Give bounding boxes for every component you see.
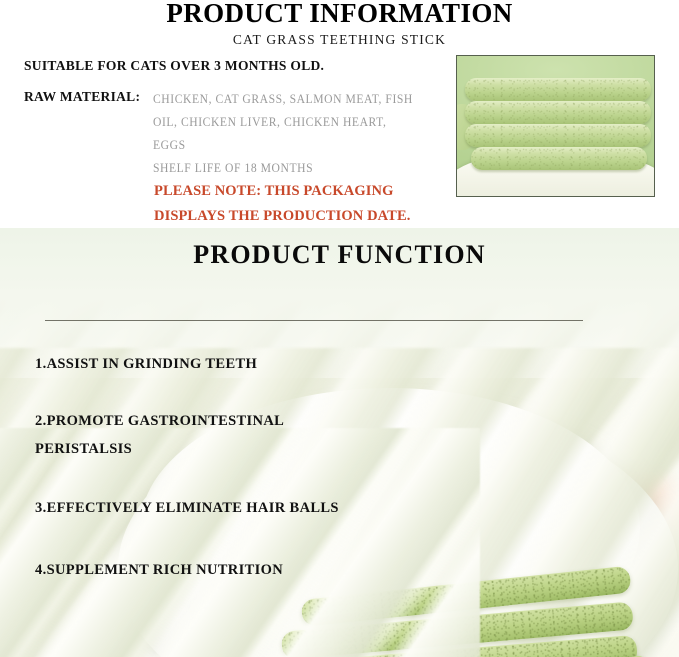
shelf-life-line: SHELF LIFE OF 18 MONTHS: [153, 157, 432, 180]
product-information-section: PRODUCT INFORMATION CAT GRASS TEETHING S…: [0, 0, 679, 228]
product-detail-page: PRODUCT INFORMATION CAT GRASS TEETHING S…: [0, 0, 679, 657]
function-item: 1.ASSIST IN GRINDING TEETH: [35, 356, 257, 373]
product-function-title: PRODUCT FUNCTION: [0, 240, 679, 270]
function-item: 2.PROMOTE GASTROINTESTINAL: [35, 413, 284, 430]
section-divider: [45, 320, 583, 321]
function-item-continuation: PERISTALSIS: [35, 441, 132, 458]
ingredient-line: EGGS: [153, 134, 432, 157]
packaging-note-line: DISPLAYS THE PRODUCTION DATE.: [154, 204, 484, 228]
packaging-note-line: PLEASE NOTE: THIS PACKAGING: [154, 179, 484, 204]
photo-stick: [465, 101, 651, 124]
function-item: 4.SUPPLEMENT RICH NUTRITION: [35, 562, 283, 579]
photo-stick: [471, 147, 647, 170]
photo-stick: [465, 124, 651, 147]
product-photo: [456, 55, 655, 197]
ingredient-line: OIL, CHICKEN LIVER, CHICKEN HEART,: [153, 111, 432, 134]
suitability-text: SUITABLE FOR CATS OVER 3 MONTHS OLD.: [24, 58, 324, 74]
raw-material-label: RAW MATERIAL:: [24, 89, 140, 105]
product-information-title: PRODUCT INFORMATION: [0, 0, 679, 29]
product-subtitle: CAT GRASS TEETHING STICK: [0, 32, 679, 48]
function-item: 3.EFFECTIVELY ELIMINATE HAIR BALLS: [35, 500, 339, 517]
packaging-note: PLEASE NOTE: THIS PACKAGING DISPLAYS THE…: [154, 179, 484, 228]
foreground-sticks-layer: [0, 428, 480, 657]
product-function-section: PRODUCT FUNCTION 1.ASSIST IN GRINDING TE…: [0, 228, 679, 657]
ingredient-line: CHICKEN, CAT GRASS, SALMON MEAT, FISH: [153, 88, 432, 111]
ingredient-list: CHICKEN, CAT GRASS, SALMON MEAT, FISH OI…: [153, 88, 453, 180]
photo-stick: [465, 78, 651, 101]
